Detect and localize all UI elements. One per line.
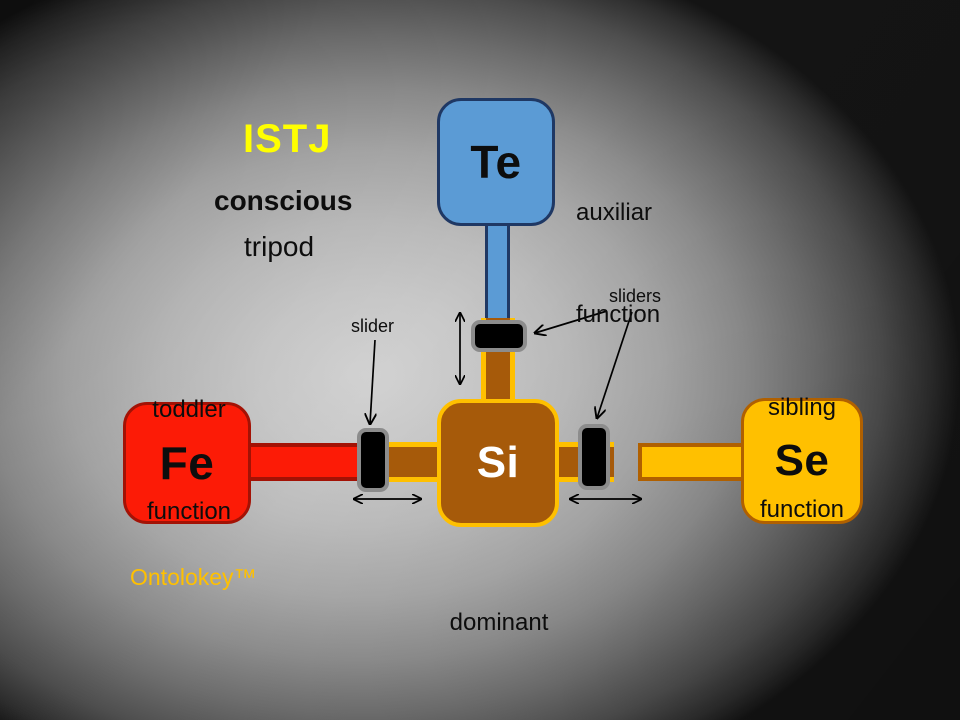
slider-handle-left[interactable]: [357, 428, 389, 492]
slider-layer: [0, 0, 960, 720]
diagram-canvas: Te Si Fe Se ISTJ conscious tripod auxili…: [0, 0, 960, 720]
slider-handle-top[interactable]: [471, 320, 527, 352]
slider-handle-right[interactable]: [578, 424, 610, 490]
